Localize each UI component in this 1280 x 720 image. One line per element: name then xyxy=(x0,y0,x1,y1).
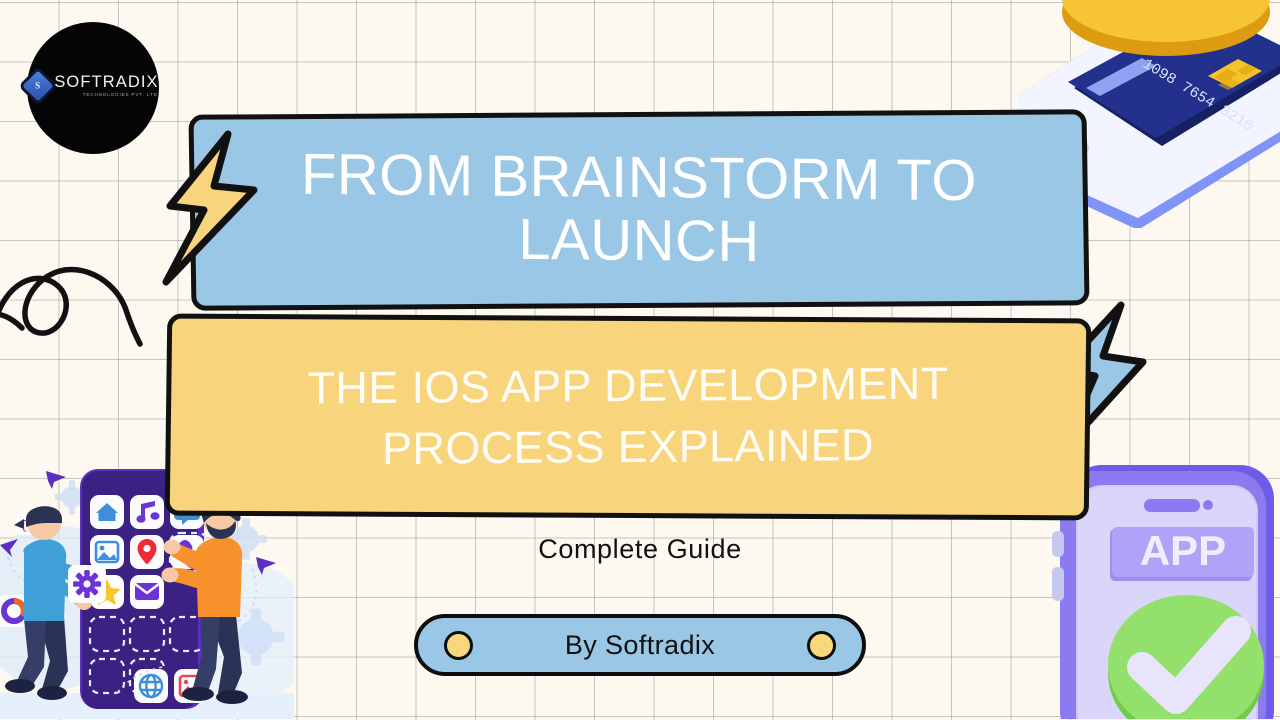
doodle-squiggle xyxy=(0,248,176,368)
logo-diamond-mark-icon: S xyxy=(23,70,54,101)
logo-mark-letter: S xyxy=(36,81,41,91)
subtitle-line-2: PROCESS EXPLAINED xyxy=(382,415,874,480)
company-logo-badge: S SOFTRADIX TECHNOLOGIES PVT. LTD xyxy=(27,22,159,154)
title-banner-secondary: THE IOS APP DEVELOPMENT PROCESS EXPLAINE… xyxy=(166,316,1090,518)
subtitle-line-1: THE IOS APP DEVELOPMENT xyxy=(307,354,948,420)
byline-dot-right-icon xyxy=(807,631,836,660)
byline-dot-left-icon xyxy=(444,631,473,660)
lightning-bolt-yellow-icon xyxy=(160,128,260,293)
presentation-slide: 1098 7654 3210 xyxy=(0,0,1280,720)
logo-company-subtitle: TECHNOLOGIES PVT. LTD xyxy=(54,93,158,98)
title-line-2: LAUNCH xyxy=(518,209,760,274)
byline-label: By Softradix xyxy=(565,630,715,661)
title-line-1: FROM BRAINSTORM TO xyxy=(301,144,977,213)
title-banner-primary: FROM BRAINSTORM TO LAUNCH xyxy=(190,112,1088,308)
complete-guide-label: Complete Guide xyxy=(0,534,1280,565)
logo-company-name: SOFTRADIX xyxy=(54,74,158,91)
byline-badge: By Softradix xyxy=(414,614,866,676)
